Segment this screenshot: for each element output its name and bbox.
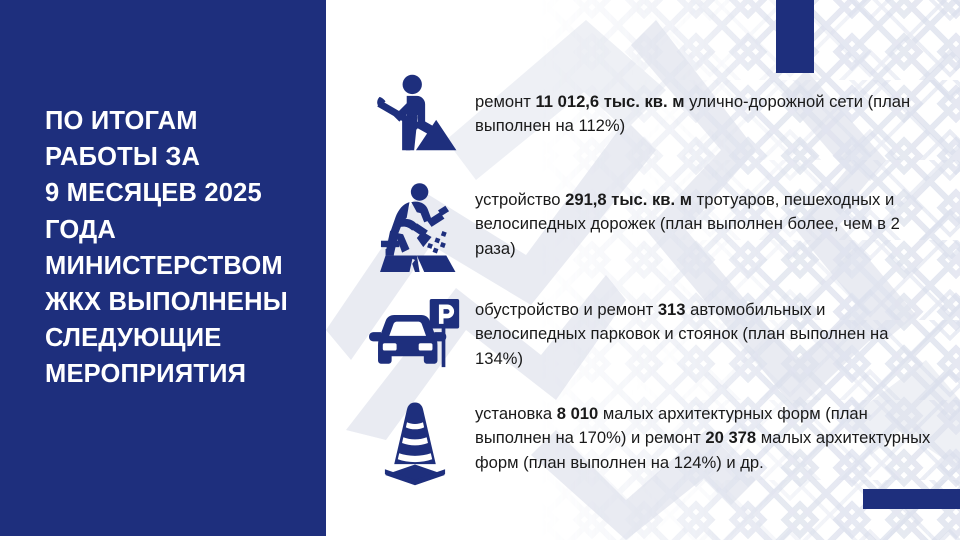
list-item-text: устройство 291,8 тыс. кв. м тротуаров, п… [475,178,935,261]
list-item: устройство 291,8 тыс. кв. м тротуаров, п… [355,178,935,274]
highlight-value: 8 010 [557,404,599,423]
list-item-text: ремонт 11 012,6 тыс. кв. м улично-дорожн… [475,70,935,139]
roadworks-worker-shovel-icon [355,70,475,166]
text-run: обустройство и ремонт [475,300,658,319]
highlight-value: 313 [658,300,686,319]
car-parking-sign-icon [355,286,475,382]
slide: ПО ИТОГАМ РАБОТЫ ЗА 9 МЕСЯЦЕВ 2025 ГОДА … [0,0,960,540]
list-item-text: установка 8 010 малых архитектурных форм… [475,394,935,475]
traffic-cone-icon [355,394,475,490]
accent-block-top-right [776,0,814,73]
worker-jackhammer-paving-icon [355,178,475,274]
title-panel: ПО ИТОГАМ РАБОТЫ ЗА 9 МЕСЯЦЕВ 2025 ГОДА … [0,0,326,536]
list-item: обустройство и ремонт 313 автомобильных … [355,286,935,382]
list-item: ремонт 11 012,6 тыс. кв. м улично-дорожн… [355,70,935,166]
highlight-value: 11 012,6 тыс. кв. м [535,92,684,111]
highlight-value: 291,8 тыс. кв. м [565,190,692,209]
highlight-value: 20 378 [705,428,756,447]
text-run: ремонт [475,92,535,111]
achievements-list: ремонт 11 012,6 тыс. кв. м улично-дорожн… [355,70,935,502]
text-run: устройство [475,190,565,209]
list-item-text: обустройство и ремонт 313 автомобильных … [475,286,935,371]
text-run: установка [475,404,557,423]
accent-bar-bottom-right [863,489,960,509]
list-item: установка 8 010 малых архитектурных форм… [355,394,935,490]
page-title: ПО ИТОГАМ РАБОТЫ ЗА 9 МЕСЯЦЕВ 2025 ГОДА … [45,103,307,393]
